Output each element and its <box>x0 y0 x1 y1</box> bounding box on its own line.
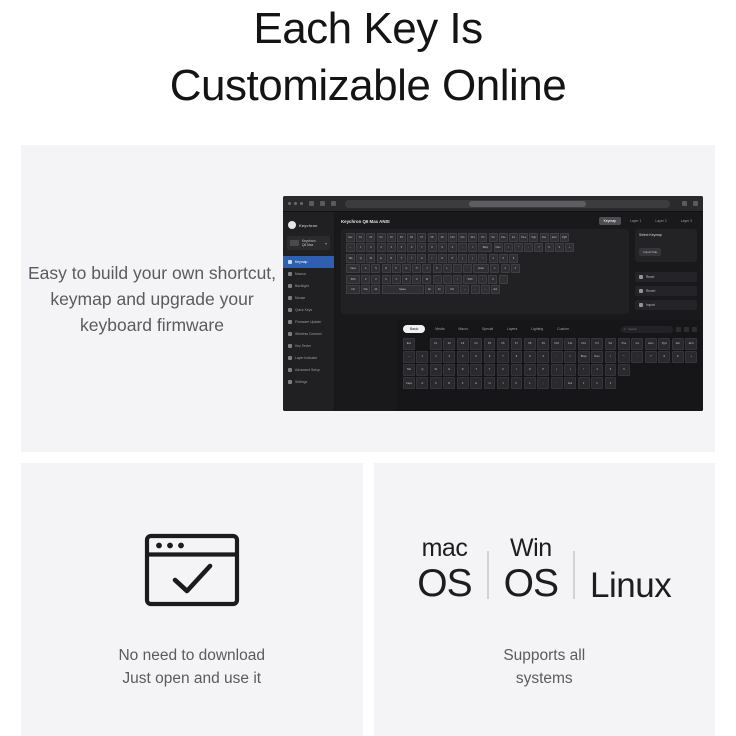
key-cap[interactable]: ] <box>468 254 477 263</box>
key-cap[interactable]: S <box>371 264 380 273</box>
keycode-cell[interactable]: ' <box>551 377 563 389</box>
os-support-caption-line-1: Supports all <box>503 644 585 667</box>
key-cap[interactable]: ' <box>463 264 472 273</box>
keycode-cell[interactable]: I <box>511 364 523 376</box>
key-cap[interactable]: Ctrl <box>346 285 360 294</box>
os-macos-top: mac <box>422 536 468 561</box>
keycode-cell[interactable]: ~ <box>403 351 415 363</box>
keycode-cell[interactable]: - <box>551 351 563 363</box>
os-list: mac OS Win OS Linux <box>417 536 671 603</box>
key-cap[interactable]: ; <box>453 264 462 273</box>
sidebar-item-label: Mouse <box>295 296 305 300</box>
key-cap[interactable]: \ <box>478 254 487 263</box>
keycode-cell[interactable]: O <box>524 364 536 376</box>
keycode-cell-empty <box>685 377 697 389</box>
side-panel-action-icon <box>639 275 643 279</box>
key-cap[interactable]: F6 <box>407 233 416 242</box>
keymap-tab-6[interactable]: Custom <box>553 325 573 333</box>
key-cap[interactable]: V <box>392 275 401 284</box>
os-support-caption: Supports all systems <box>503 644 585 690</box>
layer-tab-0[interactable]: Keymap <box>599 217 621 225</box>
key-cap[interactable]: C <box>382 275 391 284</box>
sidebar-item-1[interactable]: Macros <box>283 268 334 280</box>
sidebar-item-10[interactable]: Settings <box>283 376 334 388</box>
sidebar-item-2[interactable]: Backlight <box>283 280 334 292</box>
key-cap[interactable]: Caps <box>346 264 360 273</box>
keycode-cell-empty <box>631 377 643 389</box>
key-cap[interactable]: X <box>371 275 380 284</box>
key-cap[interactable]: , <box>433 275 442 284</box>
key-cap[interactable]: / <box>504 243 513 252</box>
sidebar-item-label: Keymap <box>295 260 307 264</box>
keycode-cell[interactable]: Bksp <box>578 351 590 363</box>
keymap-picker: BasicMediaMacroSpecialLayersLightingCust… <box>397 320 703 411</box>
key-cap[interactable]: K <box>433 264 442 273</box>
keycode-cell[interactable]: S <box>430 377 442 389</box>
key-cap[interactable]: 3 <box>511 264 520 273</box>
keycode-cell[interactable]: F5 <box>484 338 496 350</box>
sidebar-item-label: Key Tester <box>295 344 311 348</box>
key-cap[interactable]: 3 <box>377 243 386 252</box>
layer-tab-2[interactable]: Layer 2 <box>650 217 671 225</box>
page-title: Each Key Is Customizable Online <box>0 0 736 114</box>
key-cap[interactable]: F <box>392 264 401 273</box>
sidebar-item-0[interactable]: Keymap <box>283 256 334 268</box>
key-cap[interactable]: Esc <box>346 233 355 242</box>
keycode-cell[interactable]: - <box>631 351 643 363</box>
keycode-cell[interactable]: K <box>511 377 523 389</box>
side-panel-action-0[interactable]: Reset <box>635 272 697 282</box>
os-logos-visual: mac OS Win OS Linux <box>417 510 671 630</box>
keycode-cell-empty <box>416 338 428 350</box>
keycode-cell[interactable]: 0 <box>537 351 549 363</box>
sidebar-item-icon <box>288 260 292 264</box>
side-panel-action-1[interactable]: Revert <box>635 286 697 296</box>
app-body: Keychron Keychron Q6 Max ▾ KeymapMacrosB… <box>283 212 703 411</box>
editor-side-panel: Select Keymap Import File ResetRevertImp… <box>635 229 697 314</box>
keycode-cell[interactable]: Tab <box>403 364 415 376</box>
key-cap[interactable]: ↑ <box>478 275 487 284</box>
key-cap[interactable]: Bksp <box>478 243 492 252</box>
keycode-cell[interactable]: Scr <box>605 338 617 350</box>
keycode-cell-empty <box>618 377 630 389</box>
key-cap[interactable]: → <box>481 285 490 294</box>
sidebar-item-label: Settings <box>295 380 307 384</box>
keycode-cell-empty <box>645 364 657 376</box>
side-panel-action-label: Import <box>646 303 655 307</box>
keycode-cell[interactable]: = <box>564 351 576 363</box>
key-cap[interactable]: 4 <box>489 254 498 263</box>
keyboard-row-0: EscF1F2F3F4F5F6F7F8F9F10F11F12PrtScrPseI… <box>346 233 624 242</box>
key-cap[interactable]: A <box>361 264 370 273</box>
settings-icon[interactable] <box>692 327 697 332</box>
key-cap[interactable]: F2 <box>366 233 375 242</box>
keycode-cell[interactable]: 3 <box>443 351 455 363</box>
address-bar[interactable] <box>345 200 670 208</box>
os-item-winos: Win OS <box>504 536 558 603</box>
keycode-cell[interactable]: F3 <box>457 338 469 350</box>
keyboard-editor: EscF1F2F3F4F5F6F7F8F9F10F11F12PrtScrPseI… <box>341 229 697 314</box>
sidebar-item-icon <box>288 296 292 300</box>
layer-tab-1[interactable]: Layer 1 <box>625 217 646 225</box>
key-cap[interactable]: 0 <box>488 275 497 284</box>
side-panel-action-label: Revert <box>646 289 655 293</box>
key-cap[interactable]: Space <box>382 285 424 294</box>
key-cap[interactable]: Shift <box>346 275 360 284</box>
keycode-row-3: CapsASDFGHJKL;'Ent123 <box>403 377 697 389</box>
keycode-cell[interactable]: F4 <box>470 338 482 350</box>
key-cap[interactable]: F9 <box>438 233 447 242</box>
keycode-cell[interactable]: Esc <box>403 338 415 350</box>
keycode-cell[interactable]: 7 <box>497 351 509 363</box>
keycode-cell[interactable]: F2 <box>443 338 455 350</box>
key-cap[interactable]: - <box>458 243 467 252</box>
key-cap[interactable]: Ctrl <box>445 285 459 294</box>
keycode-cell[interactable]: 7 <box>645 351 657 363</box>
key-cap[interactable]: F7 <box>417 233 426 242</box>
keycode-cell[interactable]: T <box>470 364 482 376</box>
key-cap[interactable]: E <box>377 254 386 263</box>
import-file-button[interactable]: Import File <box>639 248 661 256</box>
keycode-row-2: TabQWERTYUIOP[]\456 <box>403 364 697 376</box>
key-cap[interactable]: 1 <box>490 264 499 273</box>
key-cap[interactable]: U <box>417 254 426 263</box>
key-cap[interactable]: 9 <box>438 243 447 252</box>
key-cap[interactable]: P <box>448 254 457 263</box>
share-icon[interactable] <box>682 201 687 206</box>
keycode-cell[interactable]: Prt <box>591 338 603 350</box>
keycode-cell[interactable]: 8 <box>658 351 670 363</box>
keycode-cell[interactable]: ; <box>537 377 549 389</box>
keycode-cell[interactable]: 5 <box>470 351 482 363</box>
key-cap[interactable]: F4 <box>387 233 396 242</box>
key-cap[interactable]: ← <box>460 285 469 294</box>
keycode-cell[interactable]: G <box>470 377 482 389</box>
keycode-cell[interactable]: J <box>497 377 509 389</box>
sidebar-item-icon <box>288 308 292 312</box>
app-screenshot: Keychron Keychron Q6 Max ▾ KeymapMacrosB… <box>283 196 703 411</box>
keycode-cell[interactable]: D <box>443 377 455 389</box>
os-winos-bottom: OS <box>504 564 558 603</box>
feature-card-online-editor: Easy to build your own shortcut, keymap … <box>21 145 715 452</box>
keycode-cell[interactable]: 4 <box>457 351 469 363</box>
key-cap[interactable]: - <box>524 243 533 252</box>
keycode-cell[interactable]: 2 <box>591 377 603 389</box>
keycode-cell[interactable]: F11 <box>564 338 576 350</box>
keycode-cell[interactable]: End <box>685 338 697 350</box>
editor-text-line-1: Easy to build your <box>28 263 167 283</box>
keycode-cell[interactable]: A <box>416 377 428 389</box>
key-cap[interactable]: T <box>397 254 406 263</box>
key-cap[interactable]: 5 <box>397 243 406 252</box>
keycode-cell[interactable]: Y <box>484 364 496 376</box>
key-cap[interactable]: 7 <box>534 243 543 252</box>
keycode-cell[interactable]: + <box>685 351 697 363</box>
keyboard-row-5: CtrlWinAltSpaceAltFnCtrl←↓→Ent <box>346 285 624 294</box>
key-cap[interactable]: G <box>402 264 411 273</box>
sidebar-item-3[interactable]: Mouse <box>283 292 334 304</box>
filter-icon[interactable] <box>676 327 681 332</box>
key-cap[interactable]: ↓ <box>471 285 480 294</box>
keycode-cell[interactable]: ] <box>564 364 576 376</box>
keycode-cell[interactable]: 1 <box>578 377 590 389</box>
key-cap[interactable]: H <box>412 264 421 273</box>
key-cap[interactable]: Prt <box>478 233 487 242</box>
browser-check-visual <box>144 510 240 630</box>
os-item-linux: Linux <box>590 568 671 603</box>
key-cap[interactable]: * <box>514 243 523 252</box>
sidebar-item-icon <box>288 284 292 288</box>
minimize-icon[interactable] <box>294 202 297 205</box>
keycode-cell[interactable]: Del <box>672 338 684 350</box>
key-cap[interactable]: Tab <box>346 254 355 263</box>
key-cap[interactable]: L <box>443 264 452 273</box>
key-cap[interactable]: B <box>402 275 411 284</box>
key-cap[interactable]: 9 <box>555 243 564 252</box>
keycode-cell[interactable]: W <box>430 364 442 376</box>
key-cap[interactable]: F1 <box>356 233 365 242</box>
keycode-cell[interactable]: L <box>524 377 536 389</box>
key-cap[interactable]: F10 <box>448 233 457 242</box>
keycode-cell[interactable]: H <box>484 377 496 389</box>
keycode-cell[interactable]: 3 <box>605 377 617 389</box>
keycode-cell[interactable]: 1 <box>416 351 428 363</box>
search-placeholder: Search <box>628 327 637 331</box>
key-cap[interactable]: Del <box>540 233 549 242</box>
key-cap[interactable]: R <box>387 254 396 263</box>
keymap-tab-2[interactable]: Macro <box>455 325 472 333</box>
key-cap[interactable]: 0 <box>448 243 457 252</box>
app-main: Keychron Q6 Max ANSI KeymapLayer 1Layer … <box>335 212 703 411</box>
editor-text-line-5: firmware <box>157 315 224 335</box>
key-cap[interactable]: 7 <box>417 243 426 252</box>
back-icon[interactable] <box>320 201 325 206</box>
page-title-line-1: Each Key Is <box>0 0 736 57</box>
keycode-cell[interactable]: / <box>605 351 617 363</box>
sidebar-item-5[interactable]: Firmware Update <box>283 316 334 328</box>
keycode-cell[interactable]: * <box>618 351 630 363</box>
keycode-cell[interactable]: Ent <box>564 377 576 389</box>
keycode-cell[interactable]: R <box>457 364 469 376</box>
key-cap[interactable]: PgD <box>560 233 569 242</box>
keymap-category-tabs: BasicMediaMacroSpecialLayersLightingCust… <box>403 325 697 333</box>
sidebar-item-6[interactable]: Wireless Connect <box>283 328 334 340</box>
sidebar-item-icon <box>288 356 292 360</box>
keycode-cell[interactable]: F12 <box>578 338 590 350</box>
editor-text-line-3: keymap and upgrade <box>50 289 214 309</box>
key-cap[interactable]: Enter <box>473 264 489 273</box>
new-tab-icon[interactable] <box>693 201 698 206</box>
keycode-cell[interactable]: F10 <box>551 338 563 350</box>
keycode-cell[interactable]: 2 <box>430 351 442 363</box>
maximize-icon[interactable] <box>300 202 303 205</box>
feature-card-online-editor-text: Easy to build your own shortcut, keymap … <box>21 260 279 338</box>
sidebar-item-7[interactable]: Key Tester <box>283 340 334 352</box>
key-cap[interactable]: 2 <box>501 264 510 273</box>
sidebar-toggle-icon[interactable] <box>309 201 314 206</box>
sidebar-item-8[interactable]: Layer Indicator <box>283 352 334 364</box>
os-support-caption-line-2: systems <box>503 667 585 690</box>
keycode-cell[interactable]: 6 <box>484 351 496 363</box>
keycode-cell[interactable]: F6 <box>497 338 509 350</box>
key-cap[interactable]: ~ <box>346 243 355 252</box>
keycode-cell[interactable]: Caps <box>403 377 415 389</box>
sidebar-item-label: Macros <box>295 272 306 276</box>
key-cap[interactable]: Alt <box>425 285 434 294</box>
sidebar-item-label: Backlight <box>295 284 309 288</box>
keycode-cell[interactable]: Ins <box>631 338 643 350</box>
key-cap[interactable]: PgU <box>529 233 538 242</box>
forward-icon[interactable] <box>331 201 336 206</box>
key-cap[interactable]: D <box>382 264 391 273</box>
layer-tabs: KeymapLayer 1Layer 2Layer 3 <box>599 217 697 225</box>
sidebar-item-icon <box>288 332 292 336</box>
key-cap[interactable]: Scr <box>489 233 498 242</box>
os-winos-top: Win <box>510 536 552 561</box>
key-cap[interactable]: N <box>412 275 421 284</box>
app-main-header: Keychron Q6 Max ANSI KeymapLayer 1Layer … <box>341 217 697 225</box>
keymap-tab-4[interactable]: Layers <box>503 325 521 333</box>
sidebar-item-icon <box>288 272 292 276</box>
keycode-cell[interactable]: F8 <box>524 338 536 350</box>
key-cap[interactable]: Fn <box>435 285 444 294</box>
os-macos-bottom: OS <box>417 564 471 603</box>
key-cap[interactable]: Hme <box>519 233 528 242</box>
key-cap[interactable]: Shift <box>463 275 477 284</box>
keycode-cell[interactable]: F1 <box>430 338 442 350</box>
keycode-cell[interactable]: Num <box>591 351 603 363</box>
key-cap[interactable]: / <box>453 275 462 284</box>
key-cap[interactable]: 1 <box>356 243 365 252</box>
sidebar-item-4[interactable]: Quick Keys <box>283 304 334 316</box>
side-panel-action-2[interactable]: Import <box>635 300 697 310</box>
device-model: Q6 Max <box>302 243 315 247</box>
key-cap[interactable]: Z <box>361 275 370 284</box>
key-cap[interactable]: F12 <box>468 233 477 242</box>
keyboard-layout[interactable]: EscF1F2F3F4F5F6F7F8F9F10F11F12PrtScrPseI… <box>341 229 629 314</box>
sidebar-item-9[interactable]: Advanced Setup <box>283 364 334 376</box>
keycode-cell[interactable]: F <box>457 377 469 389</box>
keymap-tab-5[interactable]: Lighting <box>527 325 547 333</box>
keycode-cell[interactable]: Pse <box>618 338 630 350</box>
keycode-cell[interactable]: 8 <box>511 351 523 363</box>
key-cap[interactable]: F8 <box>428 233 437 242</box>
keycode-cell[interactable]: PgU <box>658 338 670 350</box>
key-cap[interactable]: Q <box>356 254 365 263</box>
keycode-cell[interactable]: 6 <box>618 364 630 376</box>
key-cap[interactable]: 8 <box>428 243 437 252</box>
key-cap[interactable]: F5 <box>397 233 406 242</box>
key-cap[interactable]: Win <box>361 285 370 294</box>
side-panel-action-icon <box>639 303 643 307</box>
keycode-cell[interactable]: U <box>497 364 509 376</box>
keycode-grid[interactable]: EscF1F2F3F4F5F6F7F8F9F10F11F12PrtScrPseI… <box>403 338 697 389</box>
keycode-cell[interactable]: E <box>443 364 455 376</box>
feature-cards: Easy to build your own shortcut, keymap … <box>21 145 715 736</box>
key-cap[interactable]: F11 <box>458 233 467 242</box>
sidebar-item-icon <box>288 344 292 348</box>
feature-cards-bottom: No need to download Just open and use it… <box>21 463 715 736</box>
feature-card-os-support: mac OS Win OS Linux Supports all sys <box>374 463 716 736</box>
keycode-row-0: EscF1F2F3F4F5F6F7F8F9F10F11F12PrtScrPseI… <box>403 338 697 350</box>
keymap-card-title: Select Keymap <box>639 233 693 237</box>
key-cap[interactable]: . <box>443 275 452 284</box>
sidebar-nav: KeymapMacrosBacklightMouseQuick KeysFirm… <box>283 256 334 388</box>
sidebar-item-icon <box>288 368 292 372</box>
key-cap[interactable]: Ins <box>509 233 518 242</box>
key-cap[interactable]: 4 <box>387 243 396 252</box>
keymap-tab-0[interactable]: Basic <box>403 325 425 333</box>
keymap-card: Select Keymap Import File <box>635 229 697 262</box>
keycode-cell[interactable]: Hme <box>645 338 657 350</box>
keycode-cell[interactable]: 9 <box>672 351 684 363</box>
keycode-cell[interactable]: 9 <box>524 351 536 363</box>
sidebar-item-icon <box>288 320 292 324</box>
key-cap[interactable]: Alt <box>371 285 380 294</box>
keycode-cell[interactable]: [ <box>551 364 563 376</box>
keycode-cell[interactable]: F9 <box>537 338 549 350</box>
search-input[interactable]: ⌕ Search <box>621 326 673 333</box>
close-icon[interactable] <box>288 202 291 205</box>
key-cap[interactable]: 8 <box>545 243 554 252</box>
keycode-cell[interactable]: 4 <box>591 364 603 376</box>
key-cap[interactable]: = <box>468 243 477 252</box>
key-cap[interactable]: 6 <box>509 254 518 263</box>
keycode-cell[interactable]: F7 <box>511 338 523 350</box>
key-cap[interactable]: + <box>565 243 574 252</box>
keycode-cell[interactable]: \ <box>578 364 590 376</box>
key-cap[interactable]: Y <box>407 254 416 263</box>
key-cap[interactable]: F3 <box>377 233 386 242</box>
no-download-caption: No need to download Just open and use it <box>118 644 265 690</box>
keycode-cell[interactable]: 5 <box>605 364 617 376</box>
keycode-cell-empty <box>672 377 684 389</box>
keycode-cell-empty <box>631 364 643 376</box>
device-title: Keychron Q6 Max ANSI <box>341 219 390 224</box>
chevron-down-icon[interactable]: ▾ <box>325 241 327 246</box>
key-cap[interactable]: Pse <box>499 233 508 242</box>
keymap-tab-1[interactable]: Media <box>431 325 448 333</box>
browser-toolbar-right <box>679 201 698 206</box>
key-cap[interactable]: 5 <box>499 254 508 263</box>
key-cap[interactable]: . <box>499 275 508 284</box>
keycode-cell[interactable]: P <box>537 364 549 376</box>
key-cap[interactable]: Num <box>494 243 503 252</box>
key-cap[interactable]: [ <box>458 254 467 263</box>
keymap-search-area: ⌕ Search <box>621 326 697 333</box>
key-cap[interactable]: W <box>366 254 375 263</box>
keycode-cell-empty <box>658 364 670 376</box>
device-selector[interactable]: Keychron Q6 Max ▾ <box>287 236 330 250</box>
key-cap[interactable]: 6 <box>407 243 416 252</box>
key-cap[interactable]: O <box>438 254 447 263</box>
page-title-line-2: Customizable Online <box>0 57 736 114</box>
key-cap[interactable]: J <box>422 264 431 273</box>
key-cap[interactable]: M <box>422 275 431 284</box>
key-cap[interactable]: 2 <box>366 243 375 252</box>
keymap-tab-3[interactable]: Special <box>478 325 497 333</box>
side-panel-action-icon <box>639 289 643 293</box>
keycode-cell-empty <box>658 377 670 389</box>
layer-tab-3[interactable]: Layer 3 <box>676 217 697 225</box>
key-cap[interactable]: I <box>428 254 437 263</box>
key-cap[interactable]: End <box>550 233 559 242</box>
keycode-cell[interactable]: Q <box>416 364 428 376</box>
list-view-icon[interactable] <box>684 327 689 332</box>
key-cap[interactable]: Ent <box>491 285 500 294</box>
app-sidebar: Keychron Keychron Q6 Max ▾ KeymapMacrosB… <box>283 212 335 411</box>
sidebar-item-label: Advanced Setup <box>295 368 320 372</box>
